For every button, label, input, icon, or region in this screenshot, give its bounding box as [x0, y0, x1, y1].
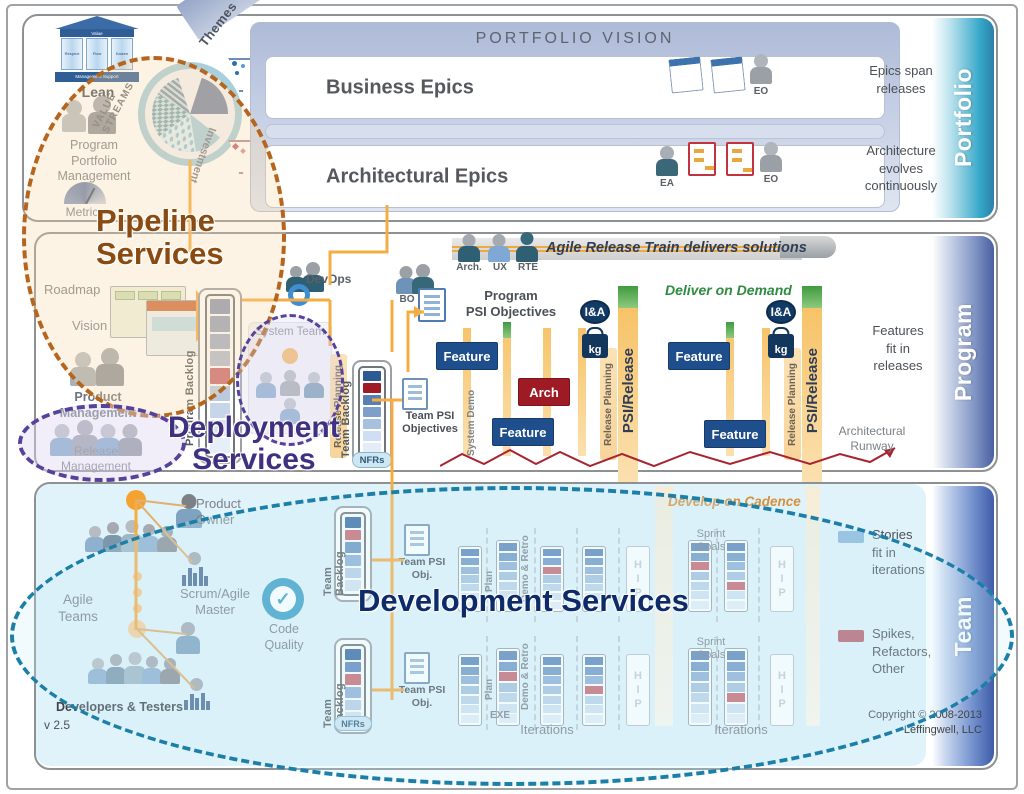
iteration-divider-2-row2 — [534, 636, 536, 730]
team-psi-objectives-doc-icon-program — [402, 378, 428, 410]
stories-legend-line3: iterations — [872, 561, 925, 579]
team-cadence-column — [655, 486, 673, 726]
release-management-line1: Release — [34, 444, 158, 459]
product-management-line2: Management — [42, 406, 154, 422]
inspect-adapt-badge-1: I&A — [580, 300, 610, 324]
spikes-legend-line2: Refactors, — [872, 643, 931, 661]
version-label: v 2.5 — [44, 718, 70, 732]
sprint-goals-row1-line2: Goals — [676, 541, 746, 554]
scrum-master-2-icon — [184, 678, 210, 710]
iteration-1-row1[interactable] — [458, 546, 482, 612]
team-dot-3-icon — [133, 604, 142, 613]
release-planning-label-2: Release Planning — [787, 363, 798, 446]
hip-letter-i-2-row2: I — [780, 684, 783, 696]
rte-role-icon — [516, 232, 538, 262]
architect-role-icon — [458, 234, 480, 262]
architecture-note-bold: Architecture — [834, 142, 968, 160]
product-mgmt-person-2-icon — [96, 348, 124, 386]
hip-box-row2: H I P — [626, 654, 650, 726]
scrum-master-line2: Master — [160, 602, 270, 618]
safe-big-picture-diagram: Portfolio Value Respect Flow Kaizen Mana… — [0, 0, 1024, 794]
team-psi-obj-2-line2: Obj. — [392, 697, 452, 710]
metrics-label: Metrics — [46, 205, 124, 219]
feature-box-1[interactable]: Feature — [436, 342, 498, 370]
epic-owner-arch-icon — [760, 142, 782, 172]
hip-letter-p-row2: P — [634, 698, 641, 710]
hip-letter-p-2-row1: P — [778, 587, 785, 599]
team-psi-obj-doc-2-icon — [404, 652, 430, 684]
enterprise-architect-label: EA — [651, 178, 683, 189]
business-owner-label: BO — [394, 294, 420, 305]
iteration-2-row1[interactable] — [496, 540, 520, 612]
scrum-master-icon — [182, 552, 208, 586]
inspect-adapt-badge-2: I&A — [766, 300, 796, 324]
architectural-epic-doc-1-icon — [688, 142, 716, 176]
agile-team-2-group-icon — [88, 652, 183, 684]
portfolio-vision-title: PORTFOLIO VISION — [251, 30, 899, 48]
epics-note-bold: Epics — [869, 63, 901, 78]
release-management-line2: Management — [34, 459, 158, 474]
develop-on-cadence-label: Develop on Cadence — [668, 494, 801, 509]
program-psi-objectives-line1: Program — [446, 288, 576, 304]
architectural-epics-row: Architectural Epics — [265, 145, 885, 208]
lean-house-roof-label: Value — [60, 31, 134, 36]
agile-team-1-group-icon — [85, 520, 180, 552]
portfolio-vision-shell: PORTFOLIO VISION Business Epics Architec… — [250, 22, 900, 212]
iteration-3-row2[interactable] — [540, 654, 564, 726]
business-epics-label: Business Epics — [326, 76, 474, 99]
sprint-goals-row2-line2: Goals — [676, 649, 746, 662]
demo-retro-label-row2: Demo & Retro — [520, 636, 531, 710]
team-cadence-column-2 — [806, 486, 820, 726]
iteration-divider-4-row1 — [618, 528, 620, 622]
epics-note-line2: releases — [840, 80, 962, 98]
spikes-legend-line3: Other — [872, 660, 931, 678]
agile-team-2-hub-icon — [128, 620, 146, 638]
team-dot-2-icon — [133, 588, 142, 597]
business-epic-doc-1-icon — [668, 56, 703, 93]
sprint-goals-row1-line1: Sprint — [676, 528, 746, 541]
architecture-note-line2: evolves — [834, 160, 968, 178]
hip-letter-h-row1: H — [634, 559, 642, 571]
stories-legend-swatch — [838, 531, 864, 543]
hip-letter-i-row2: I — [636, 684, 639, 696]
features-note-bold: Features — [836, 322, 960, 340]
agile-teams-line1: Agile — [36, 592, 120, 609]
product-owner-line1: Product — [196, 496, 241, 512]
spikes-legend-bold: Spikes, — [872, 625, 931, 643]
psi-release-label-2: PSI/Release — [804, 348, 821, 433]
hip-letter-i-row1: I — [636, 573, 639, 585]
scrum-master-line1: Scrum/Agile — [160, 586, 270, 602]
roadmap-label: Roadmap — [44, 282, 100, 297]
team-psi-objectives-line1-program: Team PSI — [392, 410, 468, 423]
features-note-line2: fit in — [836, 340, 960, 358]
system-team-person-4-icon — [280, 398, 300, 424]
hip-letter-i-2-row1: I — [780, 573, 783, 585]
iterations-label-left: Iterations — [452, 722, 642, 737]
iteration-divider-6-row1 — [758, 528, 760, 622]
exe-label: EXE — [490, 710, 510, 721]
architectural-epic-doc-2-icon — [726, 142, 754, 176]
stories-legend-bold: Stories — [872, 526, 925, 544]
iteration-divider-3-row1 — [576, 528, 578, 622]
agile-teams-line2: Teams — [36, 609, 120, 626]
hip-letter-p-2-row2: P — [778, 698, 785, 710]
psi-release-label-1: PSI/Release — [620, 348, 637, 433]
epic-owner-business-label: EO — [745, 86, 777, 97]
ppm-label-line3: Management — [40, 169, 148, 185]
vision-label: Vision — [72, 318, 107, 333]
iteration-1-row2[interactable] — [458, 654, 482, 726]
team-psi-obj-1-line1: Team PSI — [392, 556, 452, 569]
hip-letter-h-2-row2: H — [778, 670, 786, 682]
program-psi-objectives-line2: PSI Objectives — [446, 304, 576, 320]
hip-box-row1: H I P — [626, 546, 650, 612]
features-note-line3: releases — [836, 357, 960, 375]
lean-pillar-respect: Respect — [61, 38, 83, 70]
system-team-person-2-icon — [280, 370, 300, 396]
team-level-label: Team — [950, 596, 977, 656]
spikes-legend-swatch — [838, 630, 864, 642]
enterprise-architect-icon — [656, 146, 678, 176]
architectural-epics-label: Architectural Epics — [326, 165, 508, 188]
ppm-label-line2: Portfolio — [40, 154, 148, 170]
agile-team-1-hub-icon — [126, 490, 146, 510]
system-team-person-1-icon — [256, 372, 276, 398]
team-dot-1-icon — [133, 572, 142, 581]
team-psi-obj-2-line1: Team PSI — [392, 684, 452, 697]
system-team-hub-icon — [282, 348, 298, 364]
architect-role-label: Arch. — [452, 262, 486, 273]
architectural-runway-line1: Architectural — [820, 424, 924, 439]
product-mgmt-person-1-icon — [70, 352, 96, 386]
business-epic-doc-2-icon — [710, 56, 745, 93]
lean-pillar-flow: Flow — [86, 38, 108, 70]
demo-retro-label-row1: Demo & Retro — [520, 528, 531, 602]
arch-box[interactable]: Arch — [518, 378, 570, 406]
program-backlog[interactable] — [205, 294, 235, 458]
program-team-backlog[interactable] — [358, 366, 386, 458]
iteration-3-row1[interactable] — [540, 546, 564, 612]
iteration-divider-6-row2 — [758, 636, 760, 730]
hip-letter-h-2-row1: H — [778, 559, 786, 571]
architecture-note-line3: continuously — [834, 177, 968, 195]
iteration-divider-2-row1 — [534, 528, 536, 622]
deliver-on-demand-label: Deliver on Demand — [665, 282, 792, 298]
release-planning-label-1: Release Planning — [603, 363, 614, 446]
team-psi-obj-doc-1-icon — [404, 524, 430, 556]
ppm-person-1-icon — [62, 100, 86, 132]
product-owner-2-icon — [176, 622, 200, 654]
psi-release-green-cap-2 — [802, 286, 822, 308]
developers-testers-label: Developers & Testers — [56, 700, 183, 714]
hip-letter-h-row2: H — [634, 670, 642, 682]
program-psi-objectives-doc-icon — [418, 288, 446, 322]
program-backlog-label: Program Backlog — [184, 318, 196, 446]
plan-label-row2: Plan — [484, 660, 495, 700]
code-quality-icon: ✓ — [262, 578, 304, 620]
feature-box-3[interactable]: Feature — [668, 342, 730, 370]
team-psi-obj-1-line2: Obj. — [392, 569, 452, 582]
epics-note-rest: span — [901, 63, 933, 78]
devops-gear-icon — [288, 284, 310, 306]
epics-divider — [265, 124, 885, 139]
hip-box-2-row1: H I P — [770, 546, 794, 612]
architectural-runway-line2: Runway — [820, 439, 924, 454]
kg-badge-2: kg — [768, 334, 794, 358]
agile-release-train-banner: Agile Release Train delivers solutions — [546, 240, 807, 256]
rte-role-label: RTE — [512, 262, 544, 273]
product-management-line1: Product — [42, 390, 154, 406]
iteration-4-row1[interactable] — [582, 546, 606, 612]
team-psi-objectives-line2-program: Objectives — [392, 423, 468, 436]
program-nfrs-pill: NFRs — [352, 452, 392, 468]
copyright-line2: Leffingwell, LLC — [866, 723, 982, 738]
iteration-divider-4-row2 — [618, 636, 620, 730]
hip-box-2-row2: H I P — [770, 654, 794, 726]
sprint-goals-row2-line1: Sprint — [676, 636, 746, 649]
team-nfrs-pill: NFRs — [334, 716, 372, 731]
system-team-person-3-icon — [304, 372, 324, 398]
epic-owner-arch-label: EO — [755, 174, 787, 185]
iteration-divider-3-row2 — [576, 636, 578, 730]
epic-owner-business-icon — [750, 54, 772, 84]
code-quality-line2: Quality — [250, 638, 318, 654]
ux-role-label: UX — [486, 262, 514, 273]
team-backlog-1-label: Team Backlog — [322, 522, 346, 596]
stories-legend-line2: fit in — [872, 544, 925, 562]
ux-role-icon — [488, 234, 510, 262]
iterations-label-right: Iterations — [676, 722, 806, 737]
code-quality-line1: Code — [250, 622, 318, 638]
product-owner-line2: Owner — [196, 512, 241, 528]
plan-label-row1: Plan — [484, 552, 495, 592]
program-team-backlog-label: Team Backlog — [340, 378, 352, 458]
kg-badge-1: kg — [582, 334, 608, 358]
business-epics-row: Business Epics — [265, 56, 885, 119]
devops-label: DevOps — [306, 272, 351, 286]
system-team-label: System Team — [248, 326, 332, 338]
iteration-4-row2[interactable] — [582, 654, 606, 726]
psi-release-green-cap-1 — [618, 286, 638, 308]
hip-letter-p-row1: P — [634, 587, 641, 599]
copyright-line1: Copyright © 2008-2013 — [866, 708, 982, 723]
